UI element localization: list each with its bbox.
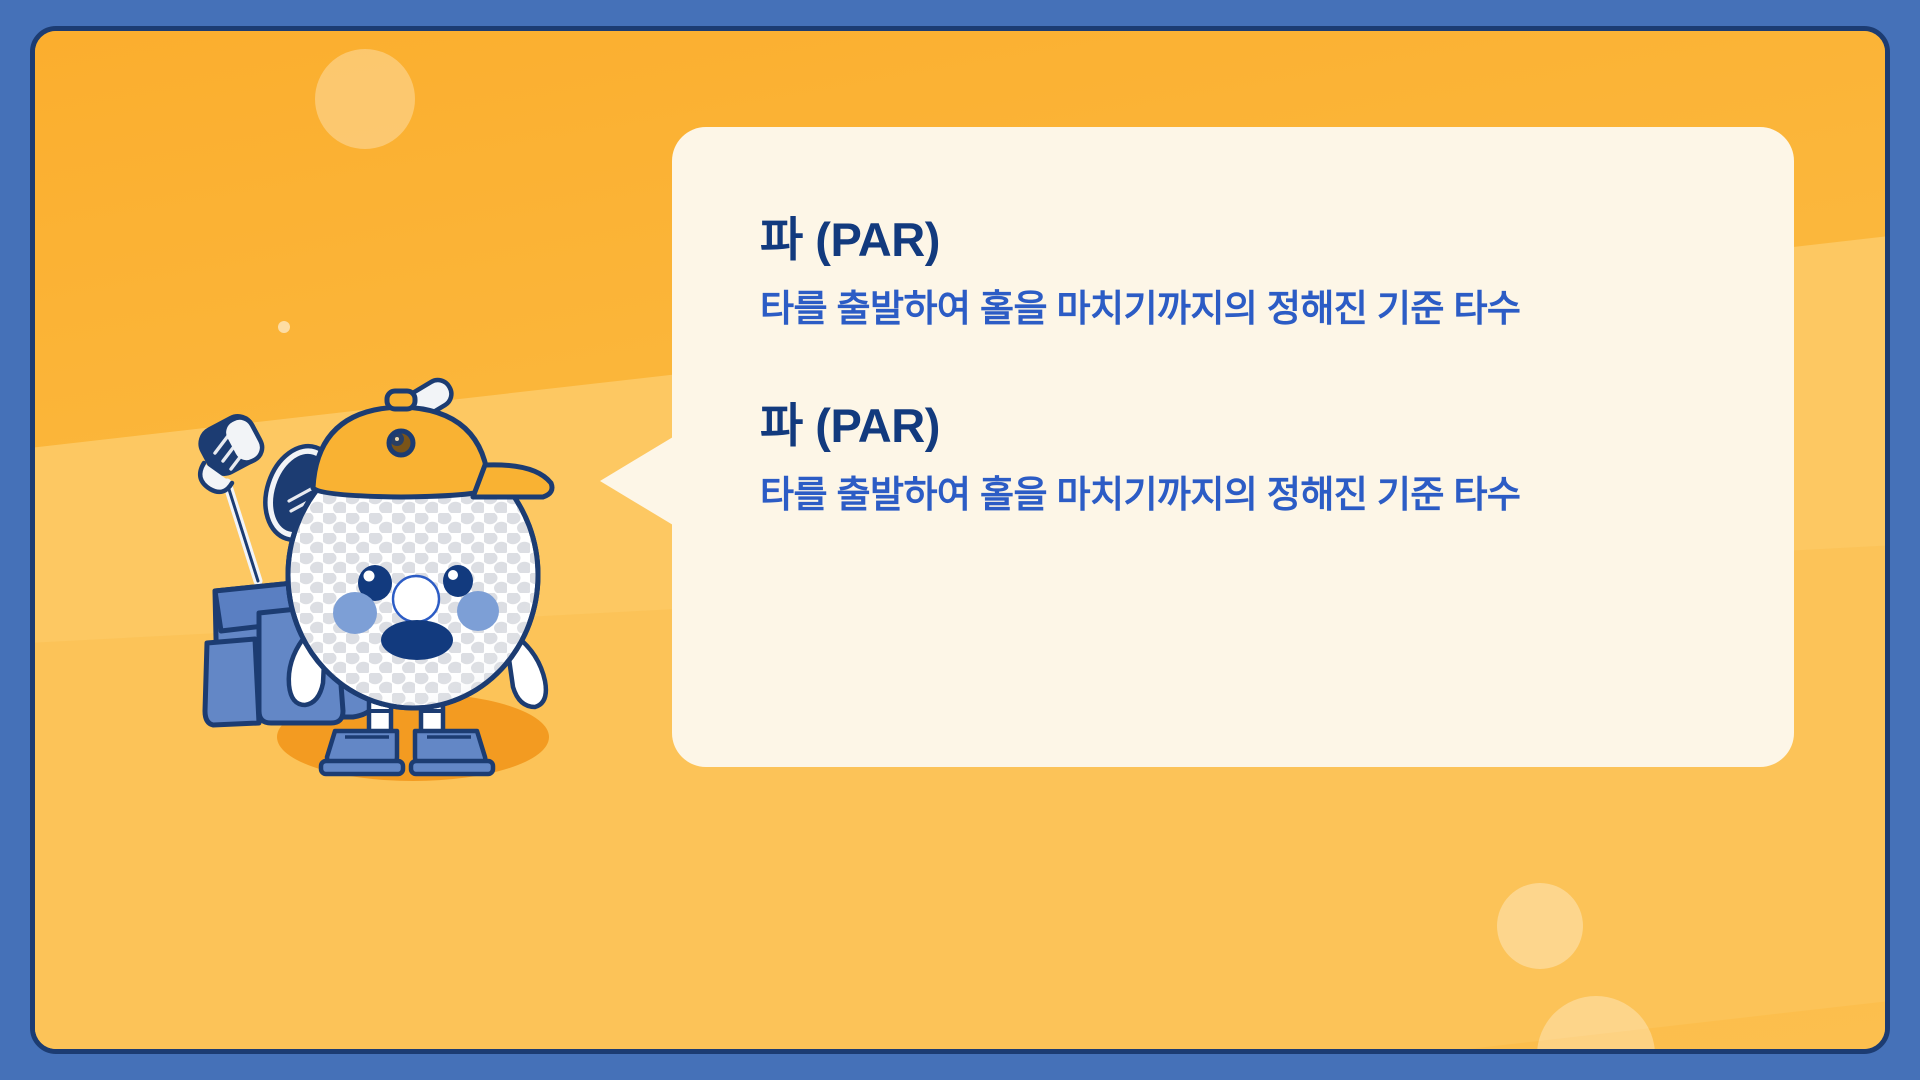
screenshot-root: 파 (PAR) 타를 출발하여 홀을 마치기까지의 정해진 기준 타수 파 (P… — [0, 0, 1920, 1080]
term-description: 타를 출발하여 홀을 마치기까지의 정해진 기준 타수 — [760, 467, 1640, 523]
mouth — [381, 620, 453, 660]
orange-panel: 파 (PAR) 타를 출발하여 홀을 마치기까지의 정해진 기준 타수 파 (P… — [30, 26, 1890, 1054]
speech-bubble-tail — [600, 437, 673, 525]
term-title: 파 (PAR) — [760, 213, 1794, 267]
speech-bubble-card: 파 (PAR) 타를 출발하여 홀을 마치기까지의 정해진 기준 타수 파 (P… — [672, 127, 1794, 767]
golf-ball-mascot — [185, 313, 605, 793]
term-description: 타를 출발하여 홀을 마치기까지의 정해진 기준 타수 — [760, 281, 1640, 337]
term-block-1: 파 (PAR) 타를 출발하여 홀을 마치기까지의 정해진 기준 타수 — [760, 213, 1794, 337]
eye-right — [443, 565, 473, 597]
cheek-right — [457, 591, 499, 631]
term-title: 파 (PAR) — [760, 399, 1794, 453]
nose — [393, 576, 439, 622]
cheek-left — [333, 592, 377, 634]
term-block-2: 파 (PAR) 타를 출발하여 홀을 마치기까지의 정해진 기준 타수 — [760, 399, 1794, 523]
golf-club-driver — [195, 411, 267, 581]
